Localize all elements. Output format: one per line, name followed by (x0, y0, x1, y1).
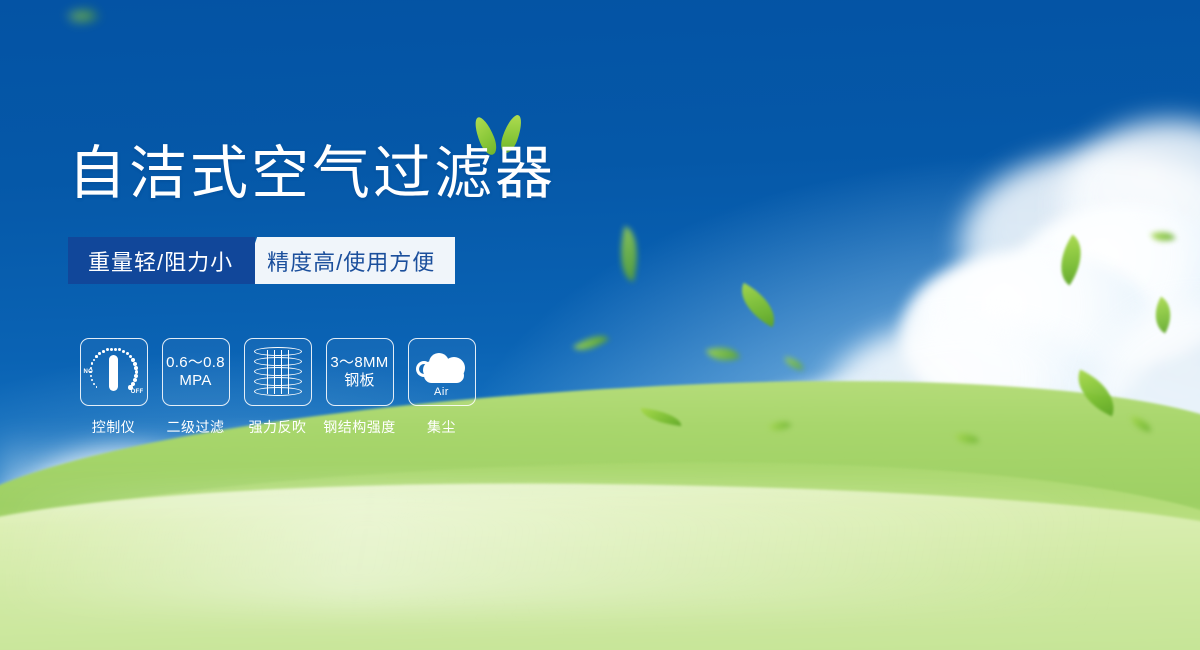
gauge-dot (114, 348, 117, 351)
grass-field-near (0, 478, 1200, 650)
steel-text-icon: 3～8MM 钢板 (330, 354, 388, 390)
gauge-dot (91, 362, 93, 364)
cloud-base (424, 368, 464, 383)
feature-item-strong-blowback[interactable]: 强力反吹 (240, 338, 315, 437)
gauge-dot (102, 350, 105, 353)
gauge-dot (128, 385, 132, 389)
subtitle-right: 精度高/使用方便 (241, 237, 455, 284)
pressure-line-1: 0.6～0.8 (166, 354, 225, 372)
feature-list: NO OFF 控制仪 0.6～0.8 MPA 二级过滤 (76, 338, 479, 437)
feature-icon-box: Air (408, 338, 476, 406)
coil-ring (254, 367, 302, 376)
steel-line-2: 钢板 (330, 372, 388, 390)
gauge-dot (89, 371, 91, 373)
coil-ring (254, 347, 302, 356)
cloud-air-icon: Air (415, 349, 469, 395)
subtitle-banner: 重量轻/阻力小 精度高/使用方便 (68, 237, 455, 284)
gauge-label-no: NO (84, 369, 94, 375)
pressure-text-icon: 0.6～0.8 MPA (166, 354, 225, 390)
feature-item-dust-collection[interactable]: Air 集尘 (404, 338, 479, 437)
page-title: 自洁式空气过滤器 (68, 143, 556, 205)
gauge-icon: NO OFF (85, 343, 143, 401)
feature-item-steel-strength[interactable]: 3～8MM 钢板 钢结构强度 (322, 338, 397, 437)
gauge-dot (106, 348, 109, 351)
gauge-dot (98, 352, 101, 355)
feature-label: 集尘 (427, 417, 456, 437)
steel-line-1: 3～8MM (330, 354, 388, 372)
feature-icon-box: NO OFF (80, 338, 148, 406)
gauge-dot (122, 350, 125, 353)
feature-label: 强力反吹 (249, 417, 307, 437)
gauge-dot (110, 348, 113, 351)
gauge-dot (90, 375, 92, 377)
feature-label: 控制仪 (92, 417, 136, 437)
feature-item-controller[interactable]: NO OFF 控制仪 (76, 338, 151, 437)
coil-ring (254, 377, 302, 386)
feature-label: 钢结构强度 (323, 417, 396, 437)
coil-ring (254, 387, 302, 396)
gauge-dot (118, 348, 121, 351)
pressure-line-2: MPA (166, 372, 225, 390)
gauge-needle (109, 355, 118, 391)
air-label: Air (415, 386, 469, 398)
promo-banner: 自洁式空气过滤器 重量轻/阻力小 精度高/使用方便 NO OFF 控制仪 0.6… (0, 0, 1200, 650)
feature-icon-box: 0.6～0.8 MPA (162, 338, 230, 406)
subtitle-left: 重量轻/阻力小 (68, 237, 255, 284)
coil-icon (254, 347, 302, 397)
feature-icon-box: 3～8MM 钢板 (326, 338, 394, 406)
gauge-dot (93, 383, 95, 385)
gauge-dot (133, 362, 137, 366)
gauge-dot (96, 386, 98, 388)
feature-label: 二级过滤 (167, 417, 225, 437)
gauge-label-off: OFF (131, 389, 144, 395)
gauge-dot (90, 367, 92, 369)
coil-ring (254, 357, 302, 366)
gauge-dot (93, 359, 96, 362)
gauge-dot (91, 379, 93, 381)
feature-item-secondary-filter[interactable]: 0.6～0.8 MPA 二级过滤 (158, 338, 233, 437)
gauge-dot (95, 355, 98, 358)
feature-icon-box (244, 338, 312, 406)
